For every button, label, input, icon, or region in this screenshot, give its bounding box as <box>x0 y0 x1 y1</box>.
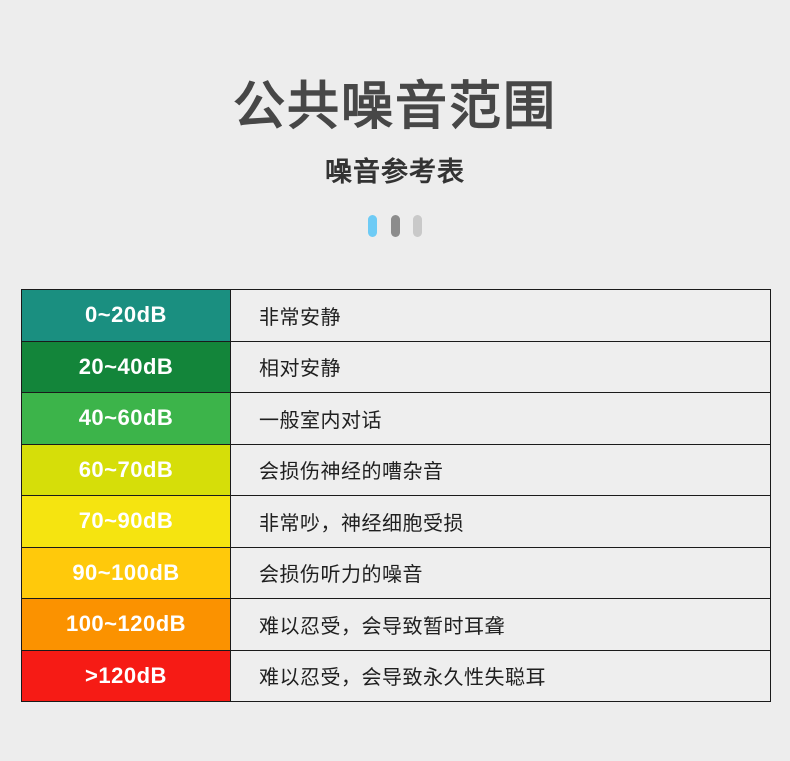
table-row: 20~40dB相对安静 <box>22 342 770 394</box>
noise-description-cell: 会损伤神经的嘈杂音 <box>230 445 770 496</box>
noise-description-cell: 难以忍受，会导致暂时耳聋 <box>230 599 770 650</box>
noise-level-cell: 40~60dB <box>22 393 230 444</box>
noise-level-cell: 100~120dB <box>22 599 230 650</box>
page-title: 公共噪音范围 <box>0 78 790 136</box>
noise-description-cell: 非常安静 <box>230 290 770 341</box>
noise-description-cell: 非常吵，神经细胞受损 <box>230 496 770 547</box>
noise-description-cell: 一般室内对话 <box>230 393 770 444</box>
noise-description-cell: 相对安静 <box>230 342 770 393</box>
noise-description-cell: 难以忍受，会导致永久性失聪耳 <box>230 651 770 702</box>
table-row: 0~20dB非常安静 <box>22 290 770 342</box>
noise-reference-infographic: 公共噪音范围 噪音参考表 0~20dB非常安静20~40dB相对安静40~60d… <box>0 0 790 761</box>
noise-level-table: 0~20dB非常安静20~40dB相对安静40~60dB一般室内对话60~70d… <box>21 289 771 702</box>
table-row: 90~100dB会损伤听力的噪音 <box>22 548 770 600</box>
table-row: 70~90dB非常吵，神经细胞受损 <box>22 496 770 548</box>
decorative-bar-blue-icon <box>368 215 377 237</box>
table-row: 40~60dB一般室内对话 <box>22 393 770 445</box>
table-row: 100~120dB难以忍受，会导致暂时耳聋 <box>22 599 770 651</box>
table-row: 60~70dB会损伤神经的嘈杂音 <box>22 445 770 497</box>
noise-level-cell: 90~100dB <box>22 548 230 599</box>
noise-level-cell: 60~70dB <box>22 445 230 496</box>
noise-level-cell: >120dB <box>22 651 230 702</box>
noise-level-cell: 70~90dB <box>22 496 230 547</box>
noise-description-cell: 会损伤听力的噪音 <box>230 548 770 599</box>
noise-level-cell: 0~20dB <box>22 290 230 341</box>
decorative-bar-light-gray-icon <box>413 215 422 237</box>
decorative-bar-dark-gray-icon <box>391 215 400 237</box>
table-row: >120dB难以忍受，会导致永久性失聪耳 <box>22 651 770 703</box>
page-subtitle: 噪音参考表 <box>0 150 790 189</box>
header: 公共噪音范围 噪音参考表 <box>0 0 790 189</box>
decorative-bars <box>368 215 422 237</box>
noise-level-cell: 20~40dB <box>22 342 230 393</box>
